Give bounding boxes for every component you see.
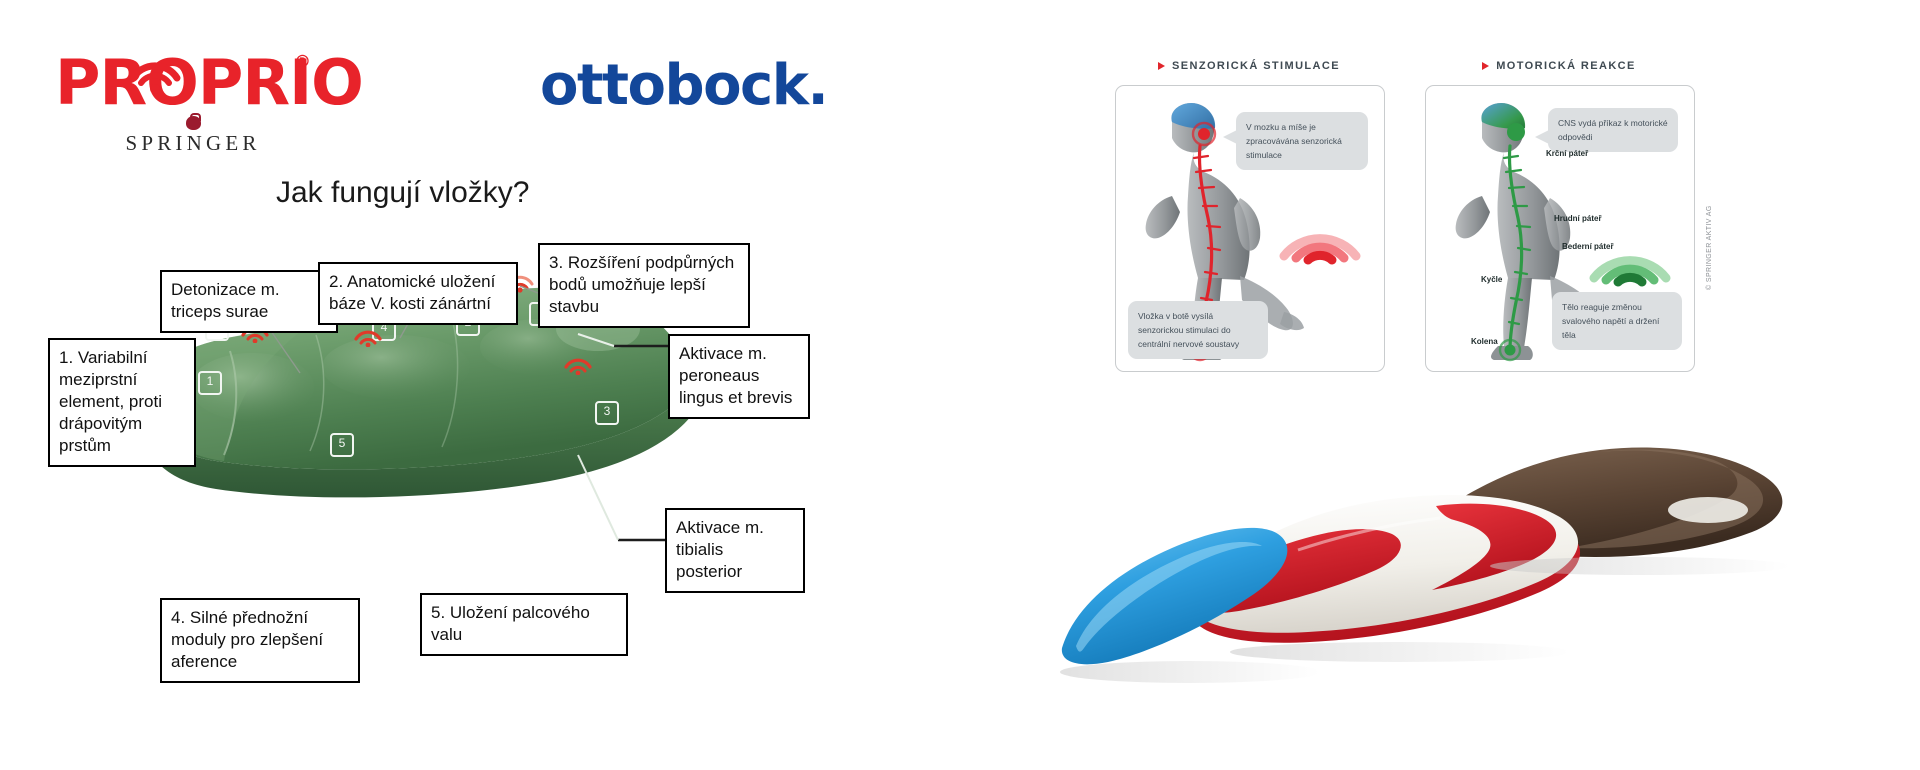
callout-rozsireni-podpurnych-bodu[interactable]: 3. Rozšíření podpůrných bodů umožňuje le…	[538, 243, 750, 328]
motor-bubble-top: CNS vydá příkaz k motorické odpovědi	[1548, 108, 1678, 152]
spine-label-krcni-pater: Krční páteř	[1546, 149, 1588, 158]
callout-variabilni-meziprstni-element[interactable]: 1. Variabilní meziprstní element, proti …	[48, 338, 196, 467]
ottobock-logo: ottobock.	[540, 58, 827, 114]
springer-logo: SPRINGER	[93, 116, 293, 156]
slide-canvas: PROPRIO ® SPRINGER ottobock. Jak fungují…	[0, 0, 1920, 770]
spine-label-hrudni-pater: Hrudní páteř	[1554, 214, 1602, 223]
motor-bubble-bottom: Tělo reaguje změnou svalového napětí a d…	[1552, 292, 1682, 350]
spine-label-kolena: Kolena	[1471, 337, 1498, 346]
proprio-logo: PROPRIO ® SPRINGER	[55, 38, 375, 153]
spine-label-kycle: Kyčle	[1481, 275, 1502, 284]
copyright-notice: © SPRINGER AKTIV AG	[1706, 205, 1713, 290]
activation-wifi-icon-4	[563, 353, 593, 375]
motor-card: CNS vydá příkaz k motorické odpovědi Těl…	[1425, 85, 1695, 372]
spine-label-bederni-pater: Bederní páteř	[1562, 242, 1614, 251]
proprio-wifi-icon	[127, 44, 183, 96]
infographic-heading-motor: MOTORICKÁ REAKCE	[1425, 60, 1693, 72]
springer-wordmark: SPRINGER	[93, 131, 293, 156]
callout-aktivace-tibialis-posterior[interactable]: Aktivace m. tibialis posterior	[665, 508, 805, 593]
callout-anatomicke-ulozeni[interactable]: 2. Anatomické uložení báze V. kosti záná…	[318, 262, 518, 325]
callout-aktivace-peroneaus[interactable]: Aktivace m. peroneaus lingus et brevis	[668, 334, 810, 419]
callout-silne-prednozni-moduly[interactable]: 4. Silné přednožní moduly pro zlepšení a…	[160, 598, 360, 683]
page-title: Jak fungují vložky?	[276, 176, 529, 210]
proprio-wordmark: PROPRIO	[55, 52, 363, 114]
springer-mark-icon	[186, 116, 201, 130]
sensory-bubble-bottom: Vložka v botě vysílá senzorickou stimula…	[1128, 301, 1268, 359]
callout-ulozeni-palcoveho-valu[interactable]: 5. Uložení palcového valu	[420, 593, 628, 656]
callout-detonizace-triceps-surae[interactable]: Detonizace m. triceps surae	[160, 270, 338, 333]
sensory-card: V mozku a míše je zpracovávána senzorick…	[1115, 85, 1385, 372]
sensory-wave-icon	[1276, 204, 1364, 268]
motor-wave-icon	[1586, 226, 1674, 290]
sensory-bubble-top: V mozku a míše je zpracovávána senzorick…	[1236, 112, 1368, 170]
triangle-bullet-icon	[1482, 62, 1489, 70]
infographic-panel-sensory: SENZORICKÁ STIMULACE	[1115, 60, 1383, 380]
triangle-bullet-icon	[1158, 62, 1165, 70]
activation-wifi-icon-2	[353, 325, 383, 347]
registered-trademark-icon: ®	[294, 52, 311, 72]
neuro-infographic: SENZORICKÁ STIMULACE	[1115, 60, 1715, 380]
infographic-heading-sensory: SENZORICKÁ STIMULACE	[1115, 60, 1383, 72]
infographic-panel-motor: MOTORICKÁ REAKCE	[1425, 60, 1693, 380]
insole-product-photo	[1040, 400, 1870, 690]
